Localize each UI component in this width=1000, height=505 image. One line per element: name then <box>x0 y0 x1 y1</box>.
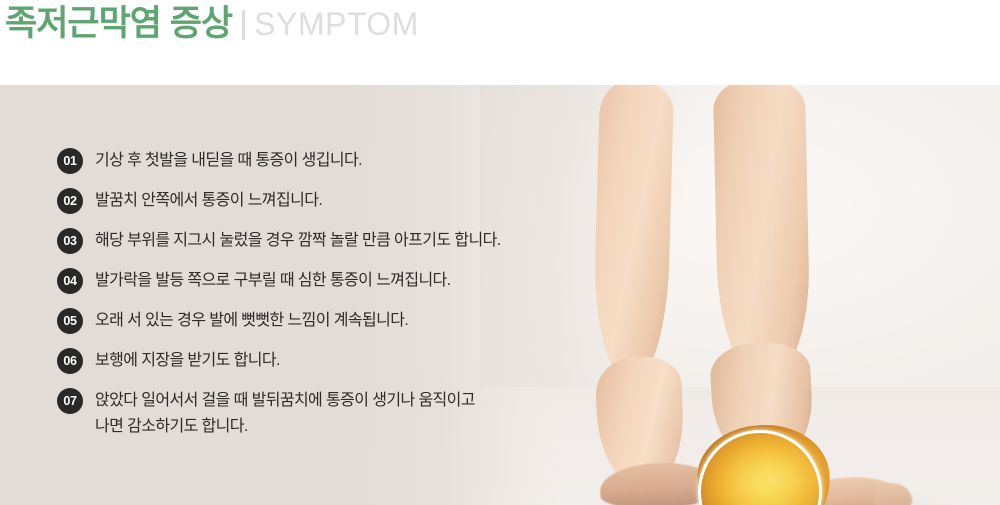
infographic-page: 족저근막염 증상 SYMPTOM 01 기상 후 첫발을 내딛을 때 통증이 생… <box>0 0 1000 505</box>
title-group: 족저근막염 증상 SYMPTOM <box>0 0 419 46</box>
symptom-text: 기상 후 첫발을 내딛을 때 통증이 생깁니다. <box>95 148 362 174</box>
symptom-text: 보행에 지장을 받기도 합니다. <box>95 348 280 374</box>
symptom-text: 앉았다 일어서서 걸을 때 발뒤꿈치에 통증이 생기나 움직이고 나면 감소하기… <box>95 388 475 440</box>
symptom-number-badge: 04 <box>57 268 83 294</box>
list-item: 01 기상 후 첫발을 내딛을 때 통증이 생깁니다. <box>57 148 362 174</box>
title-divider <box>242 10 245 40</box>
list-item: 02 발꿈치 안쪽에서 통증이 느껴집니다. <box>57 188 322 214</box>
symptom-number-badge: 01 <box>57 148 83 174</box>
list-item: 04 발가락을 발등 쪽으로 구부릴 때 심한 통증이 느껴집니다. <box>57 268 451 294</box>
list-item: 05 오래 서 있는 경우 발에 뻣뻣한 느낌이 계속됩니다. <box>57 308 408 334</box>
page-title-english: SYMPTOM <box>254 2 419 46</box>
symptom-text: 오래 서 있는 경우 발에 뻣뻣한 느낌이 계속됩니다. <box>95 308 408 334</box>
symptom-number-badge: 05 <box>57 308 83 334</box>
symptom-list: 01 기상 후 첫발을 내딛을 때 통증이 생깁니다. 02 발꿈치 안쪽에서 … <box>0 85 560 505</box>
symptom-text: 발가락을 발등 쪽으로 구부릴 때 심한 통증이 느껴집니다. <box>95 268 451 294</box>
page-header: 족저근막염 증상 SYMPTOM <box>0 0 1000 85</box>
list-item: 07 앉았다 일어서서 걸을 때 발뒤꿈치에 통증이 생기나 움직이고 나면 감… <box>57 388 475 440</box>
list-item: 03 해당 부위를 지그시 눌렀을 경우 깜짝 놀랄 만큼 아프기도 합니다. <box>57 228 501 254</box>
symptom-number-badge: 03 <box>57 228 83 254</box>
symptom-number-badge: 06 <box>57 348 83 374</box>
symptom-text: 발꿈치 안쪽에서 통증이 느껴집니다. <box>95 188 322 214</box>
page-title-korean: 족저근막염 증상 <box>5 2 232 46</box>
symptom-text: 해당 부위를 지그시 눌렀을 경우 깜짝 놀랄 만큼 아프기도 합니다. <box>95 228 501 254</box>
symptom-number-badge: 07 <box>57 388 83 414</box>
near-leg <box>713 85 811 380</box>
list-item: 06 보행에 지장을 받기도 합니다. <box>57 348 280 374</box>
symptom-number-badge: 02 <box>57 188 83 214</box>
